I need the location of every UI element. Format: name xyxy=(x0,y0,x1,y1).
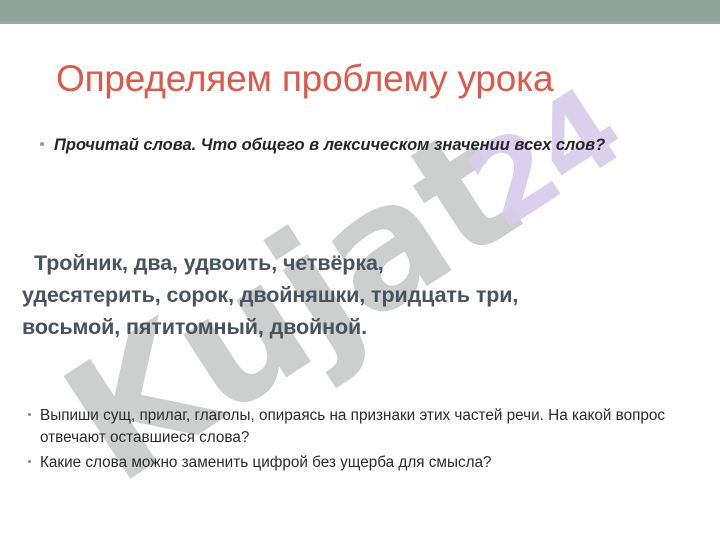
slide-title: Определяем проблему урока xyxy=(56,58,553,100)
task-item-text: Выпиши сущ, прилаг, глаголы, опираясь на… xyxy=(40,407,665,446)
intro-item-text: Прочитай слова. Что общего в лексическом… xyxy=(54,136,605,154)
list-item: Какие слова можно заменить цифрой без ущ… xyxy=(26,452,698,474)
bullet-dot-icon xyxy=(28,460,31,463)
task-bullet-list: Выпиши сущ, прилаг, глаголы, опираясь на… xyxy=(26,405,698,478)
word-list-line: Тройник, два, удвоить, четвёрка, xyxy=(22,248,712,280)
bullet-dot-icon xyxy=(40,142,44,146)
list-item: Прочитай слова. Что общего в лексическом… xyxy=(38,134,624,156)
word-list-line: удесятерить, сорок, двойняшки, тридцать … xyxy=(22,280,712,312)
word-list-block: Тройник, два, удвоить, четвёрка, удесяте… xyxy=(22,248,712,343)
word-list-line: восьмой, пятитомный, двойной. xyxy=(22,312,712,344)
intro-bullet-list: Прочитай слова. Что общего в лексическом… xyxy=(38,134,638,156)
task-item-text: Какие слова можно заменить цифрой без ущ… xyxy=(40,454,492,471)
slide-content: Определяем проблему урока Прочитай слова… xyxy=(0,0,720,540)
presentation-slide: Kujat 24 Определяем проблему урока Прочи… xyxy=(0,0,720,540)
slide-top-bar-rule xyxy=(0,21,720,24)
slide-top-bar xyxy=(0,0,720,21)
bullet-dot-icon xyxy=(28,413,31,416)
list-item: Выпиши сущ, прилаг, глаголы, опираясь на… xyxy=(26,405,698,448)
